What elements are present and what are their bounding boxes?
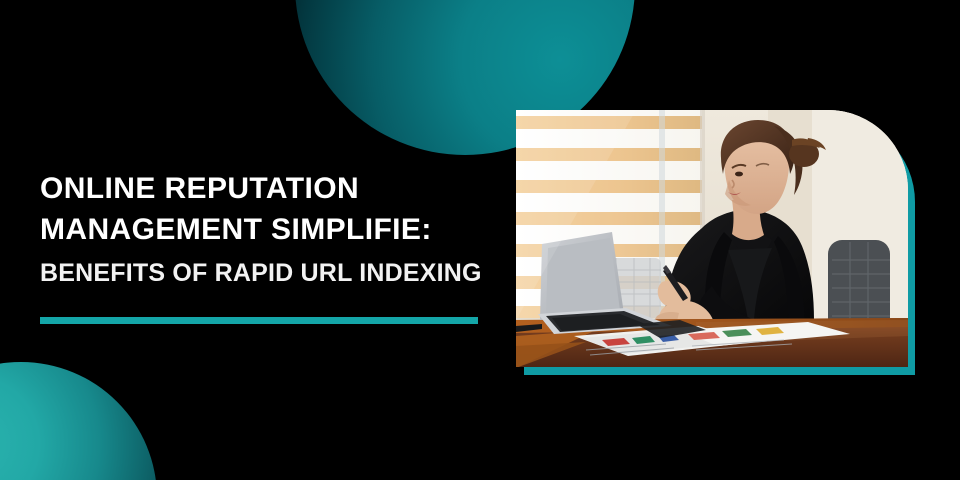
promo-banner: ONLINE REPUTATION MANAGEMENT SIMPLIFIE: … (0, 0, 960, 480)
headline-subtitle: BENEFITS OF RAPID URL INDEXING (40, 254, 490, 292)
hero-photo-illustration (516, 110, 908, 367)
hero-photo (516, 110, 908, 367)
headline-block: ONLINE REPUTATION MANAGEMENT SIMPLIFIE: … (40, 168, 490, 292)
teal-underline-rule (40, 317, 478, 324)
photo-frame-group (516, 110, 915, 375)
headline-line-1: ONLINE REPUTATION (40, 168, 490, 209)
headline-line-2: MANAGEMENT SIMPLIFIE: (40, 209, 490, 250)
teal-gradient-circle-bottom (0, 362, 157, 480)
